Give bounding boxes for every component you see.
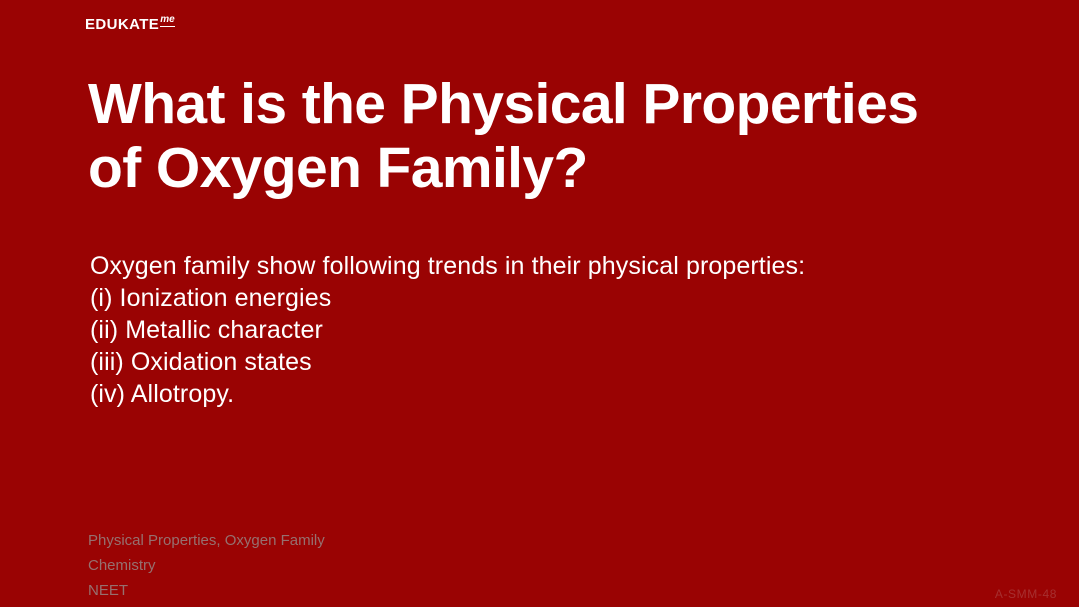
footer-subject-line: Chemistry [88, 553, 325, 578]
brand-logo: EDUKATEme [85, 16, 175, 32]
presentation-slide: EDUKATEme What is the Physical Propertie… [0, 0, 1079, 607]
footer-exam-line: NEET [88, 578, 325, 603]
body-list-item: (iv) Allotropy. [90, 378, 970, 410]
slide-footer: Physical Properties, Oxygen Family Chemi… [88, 528, 325, 603]
body-list-item: (iii) Oxidation states [90, 346, 970, 378]
slide-title: What is the Physical Properties of Oxyge… [88, 72, 968, 200]
body-list-item: (i) Ionization energies [90, 282, 970, 314]
slide-body: Oxygen family show following trends in t… [90, 250, 970, 410]
brand-name: EDUKATE [85, 16, 159, 33]
corner-watermark: A-SMM-48 [995, 587, 1057, 601]
body-list-item: (ii) Metallic character [90, 314, 970, 346]
brand-superscript: me [160, 14, 174, 27]
footer-topic-line: Physical Properties, Oxygen Family [88, 528, 325, 553]
body-intro-line: Oxygen family show following trends in t… [90, 250, 970, 282]
